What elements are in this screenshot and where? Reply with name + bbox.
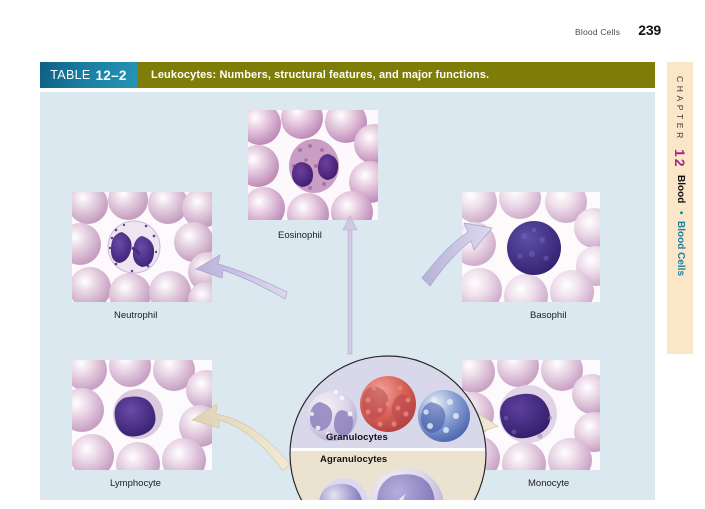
chapter-title-separator: • [667, 211, 693, 215]
table-title-bar: Leukocytes: Numbers, structural features… [137, 62, 655, 88]
chapter-tab-inner: CHAPTER 12 Blood • Blood Cells [667, 62, 693, 276]
chapter-title-primary: Blood [667, 175, 693, 203]
chapter-title-secondary: Blood Cells [667, 221, 693, 276]
running-head-title: Blood Cells [575, 27, 620, 37]
running-head: Blood Cells 239 [575, 22, 661, 38]
neutrophil-micrograph-image [72, 192, 212, 302]
label-basophil: Basophil [530, 310, 566, 321]
table-number-block: TABLE 12–2 [40, 62, 137, 88]
micrograph-neutrophil [72, 192, 212, 302]
lymphocyte-micrograph-image [72, 360, 212, 470]
table-label-number: 12–2 [95, 68, 126, 83]
chapter-number: 12 [667, 149, 693, 169]
eosinophil-micrograph-image [248, 110, 378, 220]
micrograph-eosinophil [248, 110, 378, 220]
basophil-micrograph-image [462, 192, 600, 302]
table-label-word: TABLE [50, 68, 90, 82]
figure-panel: Neutrophil [40, 92, 655, 500]
center-diagram: Granulocytes Agranulocytes [288, 354, 488, 500]
label-monocyte: Monocyte [528, 478, 569, 489]
agranulocytes-label: Agranulocytes [320, 454, 387, 465]
schematic-basophil [418, 390, 470, 442]
label-neutrophil: Neutrophil [114, 310, 157, 321]
label-eosinophil: Eosinophil [278, 230, 322, 241]
page-number: 239 [638, 22, 661, 38]
chapter-word: CHAPTER [667, 76, 693, 142]
chapter-side-tab: CHAPTER 12 Blood • Blood Cells [667, 62, 693, 354]
leukocyte-circle-diagram [288, 354, 488, 500]
schematic-eosinophil [360, 376, 416, 432]
micrograph-basophil [462, 192, 600, 302]
label-lymphocyte: Lymphocyte [110, 478, 161, 489]
table-header: TABLE 12–2 Leukocytes: Numbers, structur… [40, 62, 655, 88]
granulocytes-label: Granulocytes [326, 432, 388, 443]
micrograph-lymphocyte [72, 360, 212, 470]
arrow-to-eosinophil [343, 216, 357, 354]
table-title-text: Leukocytes: Numbers, structural features… [151, 69, 489, 81]
